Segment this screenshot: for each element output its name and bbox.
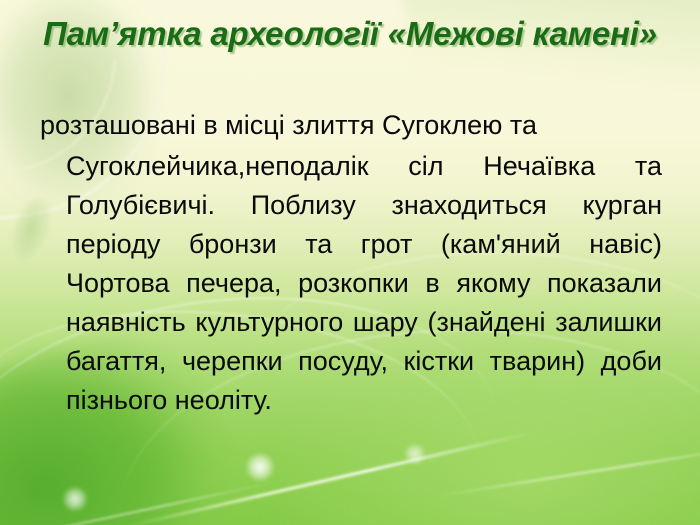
presentation-slide: Пам’ятка археології «Межові камені» розт…	[0, 0, 700, 525]
slide-body: розташовані в місці злиття Сугоклею та С…	[40, 106, 662, 420]
slide-title: Пам’ятка археології «Межові камені»	[36, 12, 664, 56]
body-paragraph-1: розташовані в місці злиття Сугоклею та	[40, 106, 662, 145]
body-paragraph-2: Сугоклейчика,неподалік сіл Нечаївка та Г…	[40, 147, 662, 420]
slide-content: Пам’ятка археології «Межові камені» розт…	[0, 0, 700, 525]
